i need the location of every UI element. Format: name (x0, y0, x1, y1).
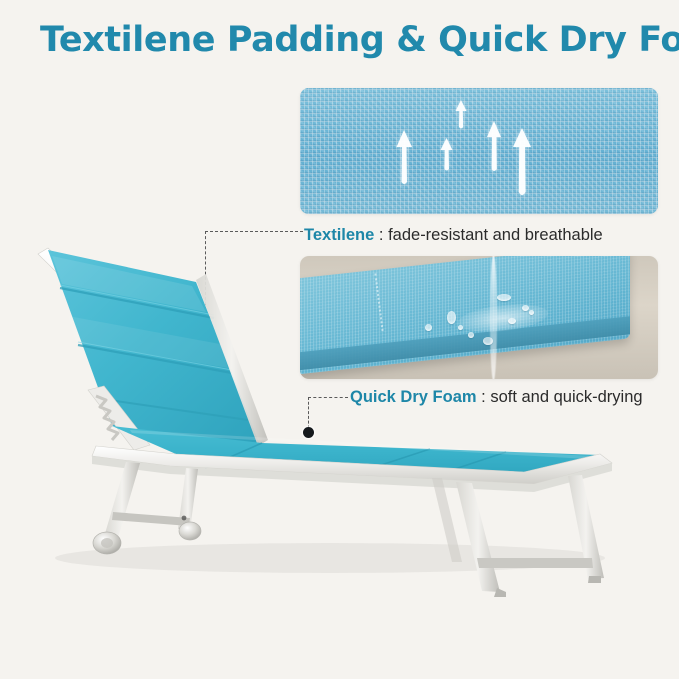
page-title: Textilene Padding & Quick Dry Foam (40, 20, 660, 60)
airflow-arrow-icon (395, 130, 413, 186)
airflow-arrow-icon (486, 121, 502, 173)
airflow-arrow-icon (455, 100, 467, 130)
textilene-mesh-photo (300, 88, 658, 214)
infographic-canvas: Textilene Padding & Quick Dry Foam (0, 0, 679, 679)
callout-line-horizontal (205, 231, 303, 232)
chaise-lounge-product-image (0, 240, 679, 600)
airflow-arrow-icon (440, 138, 453, 172)
airflow-arrow-icon (512, 128, 532, 198)
mesh-fabric-texture (300, 88, 658, 214)
